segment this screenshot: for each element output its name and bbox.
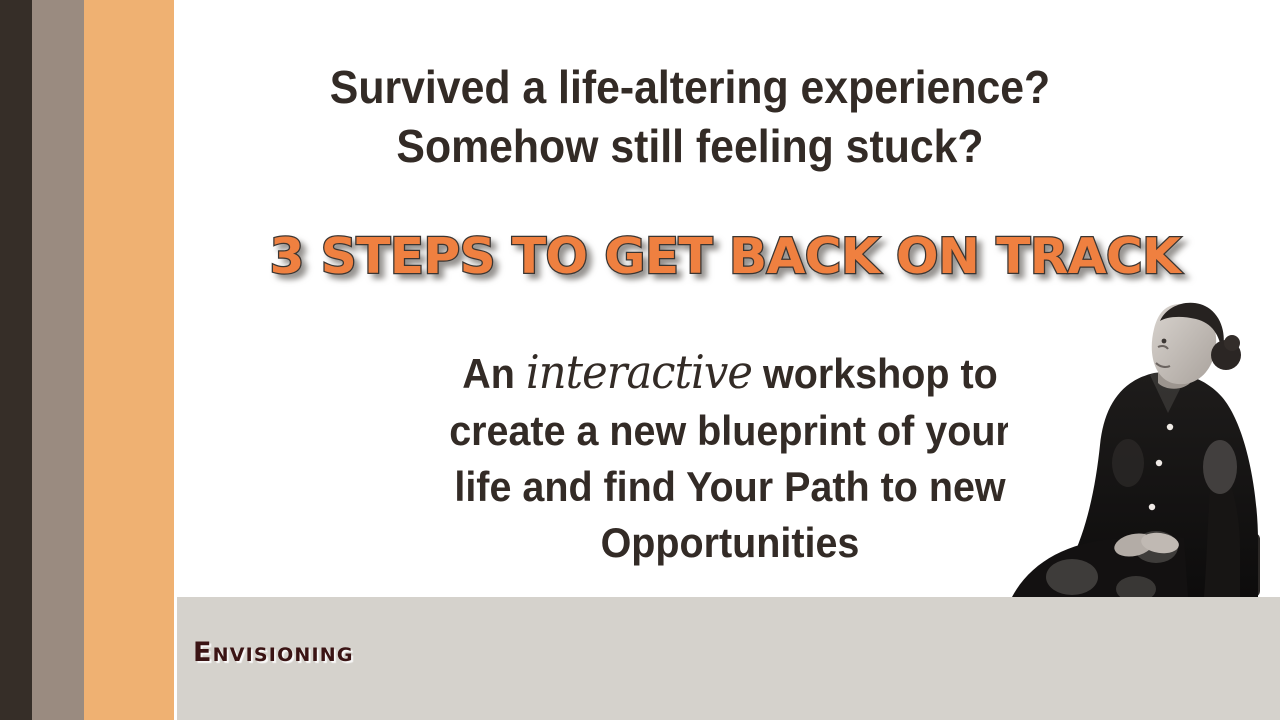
body-line-4: Opportunities: [354, 515, 1106, 571]
slide-body-copy: An interactive workshop to create a new …: [354, 342, 1106, 571]
headline-line-2: Somehow still feeling stuck?: [216, 117, 1165, 176]
footer-label: Envisioning: [193, 637, 354, 668]
body-line-1-script-word: interactive: [526, 345, 752, 399]
slide-headline: Survived a life-altering experience? Som…: [216, 58, 1165, 176]
portrait-illustration: [1008, 295, 1280, 597]
stripe-light-orange: [84, 0, 174, 720]
body-line-3: life and find Your Path to new: [354, 459, 1106, 515]
body-line-1-prefix: An: [462, 350, 526, 397]
stripe-dark-brown: [0, 0, 32, 720]
stripe-taupe: [32, 0, 84, 720]
portrait-photo: [1008, 295, 1280, 597]
body-line-2: create a new blueprint of your: [354, 403, 1106, 459]
body-line-1: An interactive workshop to: [354, 342, 1106, 403]
presentation-slide: Survived a life-altering experience? Som…: [0, 0, 1280, 720]
banner-title: 3 Steps to get back on track: [169, 228, 1280, 285]
headline-line-1: Survived a life-altering experience?: [216, 58, 1165, 117]
body-line-1-suffix: workshop to: [752, 350, 998, 397]
